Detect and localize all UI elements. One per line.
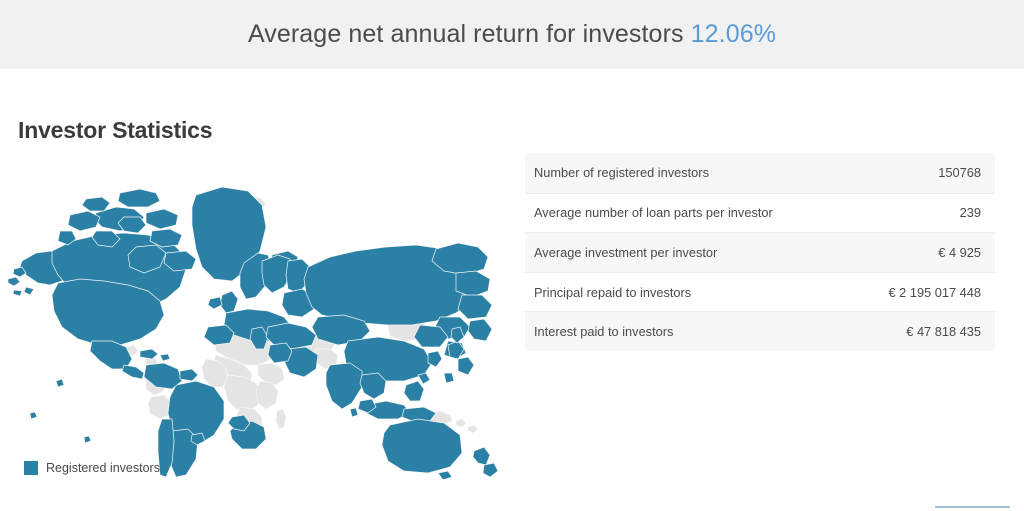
table-row: Average investment per investor € 4 925 [525,232,995,272]
page-header-band: Average net annual return for investors … [0,0,1024,69]
stat-label: Interest paid to investors [534,324,673,339]
stat-label: Principal repaid to investors [534,285,691,300]
table-row: Principal repaid to investors € 2 195 01… [525,272,995,312]
stat-value: € 2 195 017 448 [888,285,981,300]
table-row: Number of registered investors 150768 [525,153,995,193]
cutoff-button-top-edge[interactable] [935,506,1010,511]
world-map-svg[interactable] [0,169,510,479]
stat-label: Average investment per investor [534,245,717,260]
world-map-panel[interactable] [0,169,510,479]
stat-value: € 4 925 [938,245,981,260]
stat-label: Number of registered investors [534,165,709,180]
table-row: Interest paid to investors € 47 818 435 [525,311,995,351]
page-header-title: Average net annual return for investors … [248,20,776,49]
stat-value: € 47 818 435 [906,324,981,339]
page-title: Investor Statistics [18,117,212,144]
stat-value: 239 [960,205,981,220]
main-content: Investor Statistics [0,69,1024,511]
table-row: Average number of loan parts per investo… [525,193,995,233]
investor-statistics-table: Number of registered investors 150768 Av… [525,153,995,351]
stat-label: Average number of loan parts per investo… [534,205,773,220]
legend-label-registered-investors: Registered investors [46,461,160,475]
header-title-text: Average net annual return for investors [248,20,691,48]
header-return-value: 12.06% [691,20,776,48]
stat-value: 150768 [938,165,981,180]
map-legend: Registered investors [24,461,160,475]
legend-swatch-icon [24,461,38,475]
